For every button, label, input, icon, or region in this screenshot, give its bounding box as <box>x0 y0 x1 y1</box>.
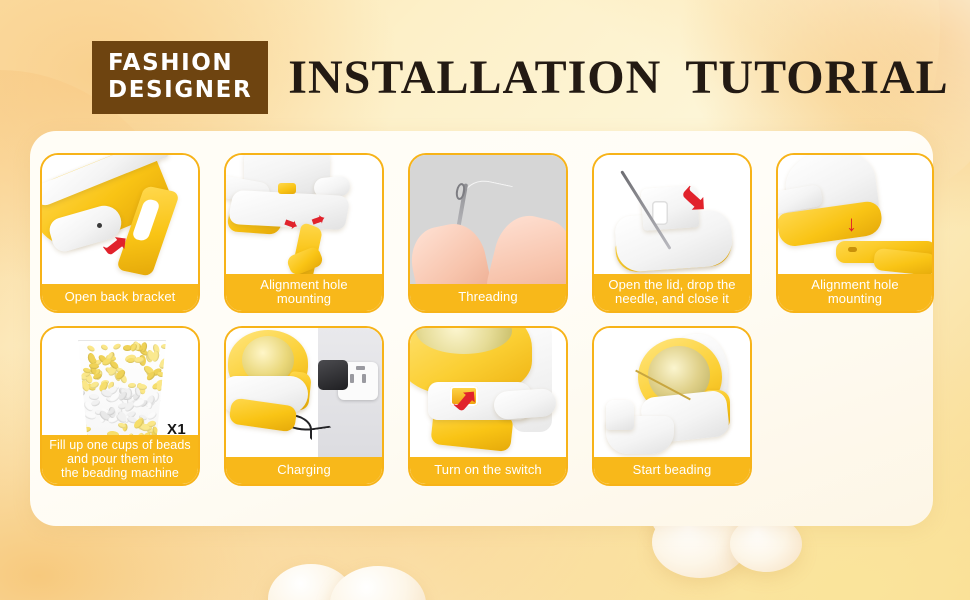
bead <box>160 395 168 401</box>
step-label: Threading <box>410 284 566 311</box>
step-label: Alignment hole mounting <box>226 274 382 311</box>
arrow-icon: ↓ <box>846 213 857 235</box>
brand-badge: FASHION DESIGNER <box>92 41 268 114</box>
step-label: Open back bracket <box>42 284 198 311</box>
step-card-threading[interactable]: Threading <box>408 153 568 313</box>
bead <box>161 344 170 350</box>
bead <box>81 422 87 431</box>
tutorial-infographic: FASHION DESIGNER INSTALLATION TUTORIAL <box>0 0 970 600</box>
page-header: FASHION DESIGNER INSTALLATION TUTORIAL <box>92 41 949 114</box>
bead <box>160 383 170 394</box>
step-label: Turn on the switch <box>410 457 566 484</box>
step-card-open-lid-drop-needle[interactable]: ➥ Open the lid, drop the needle, and clo… <box>592 153 752 313</box>
brand-badge-line-1: FASHION <box>108 52 252 75</box>
bead <box>159 412 167 419</box>
bead <box>89 394 99 401</box>
bead <box>159 397 170 407</box>
steps-row-1: ➥ Open back bracket ➠ <box>40 153 926 313</box>
bead <box>165 390 172 401</box>
bead <box>158 361 168 370</box>
step-card-alignment-hole-mounting-2[interactable]: ↓ Alignment hole mounting <box>776 153 934 313</box>
bead <box>157 371 166 377</box>
bead <box>161 407 172 419</box>
steps-row-2: X1 Fill up one cups of beads and pour th… <box>40 326 926 486</box>
step-card-fill-beads[interactable]: X1 Fill up one cups of beads and pour th… <box>40 326 200 486</box>
bead <box>83 426 92 432</box>
page-title: INSTALLATION TUTORIAL <box>288 50 948 105</box>
bead <box>86 344 95 352</box>
step-card-alignment-hole-mounting-1[interactable]: ➠ ➠ Alignment hole mounting <box>224 153 384 313</box>
decorative-blob-bottom-left <box>268 564 354 600</box>
step-label: Charging <box>226 457 382 484</box>
steps-panel: ➥ Open back bracket ➠ <box>30 131 933 526</box>
step-card-turn-on-switch[interactable]: ➥ Turn on the switch <box>408 326 568 486</box>
decorative-blob-bottom-left-2 <box>330 566 426 600</box>
bead <box>127 383 135 388</box>
bead <box>147 401 153 409</box>
bead <box>112 342 122 350</box>
step-label: Alignment hole mounting <box>778 274 932 311</box>
bead <box>100 343 109 350</box>
step-label: Fill up one cups of beads and pour them … <box>42 435 198 484</box>
step-card-start-beading[interactable]: Start beading <box>592 326 752 486</box>
beads-cup <box>72 340 172 444</box>
step-card-open-back-bracket[interactable]: ➥ Open back bracket <box>40 153 200 313</box>
brand-badge-line-2: DESIGNER <box>108 79 252 102</box>
step-label: Open the lid, drop the needle, and close… <box>594 274 750 311</box>
bead <box>159 402 171 412</box>
step-label: Start beading <box>594 457 750 484</box>
step-card-charging[interactable]: Charging <box>224 326 384 486</box>
steps-grid: ➥ Open back bracket ➠ <box>40 153 926 486</box>
